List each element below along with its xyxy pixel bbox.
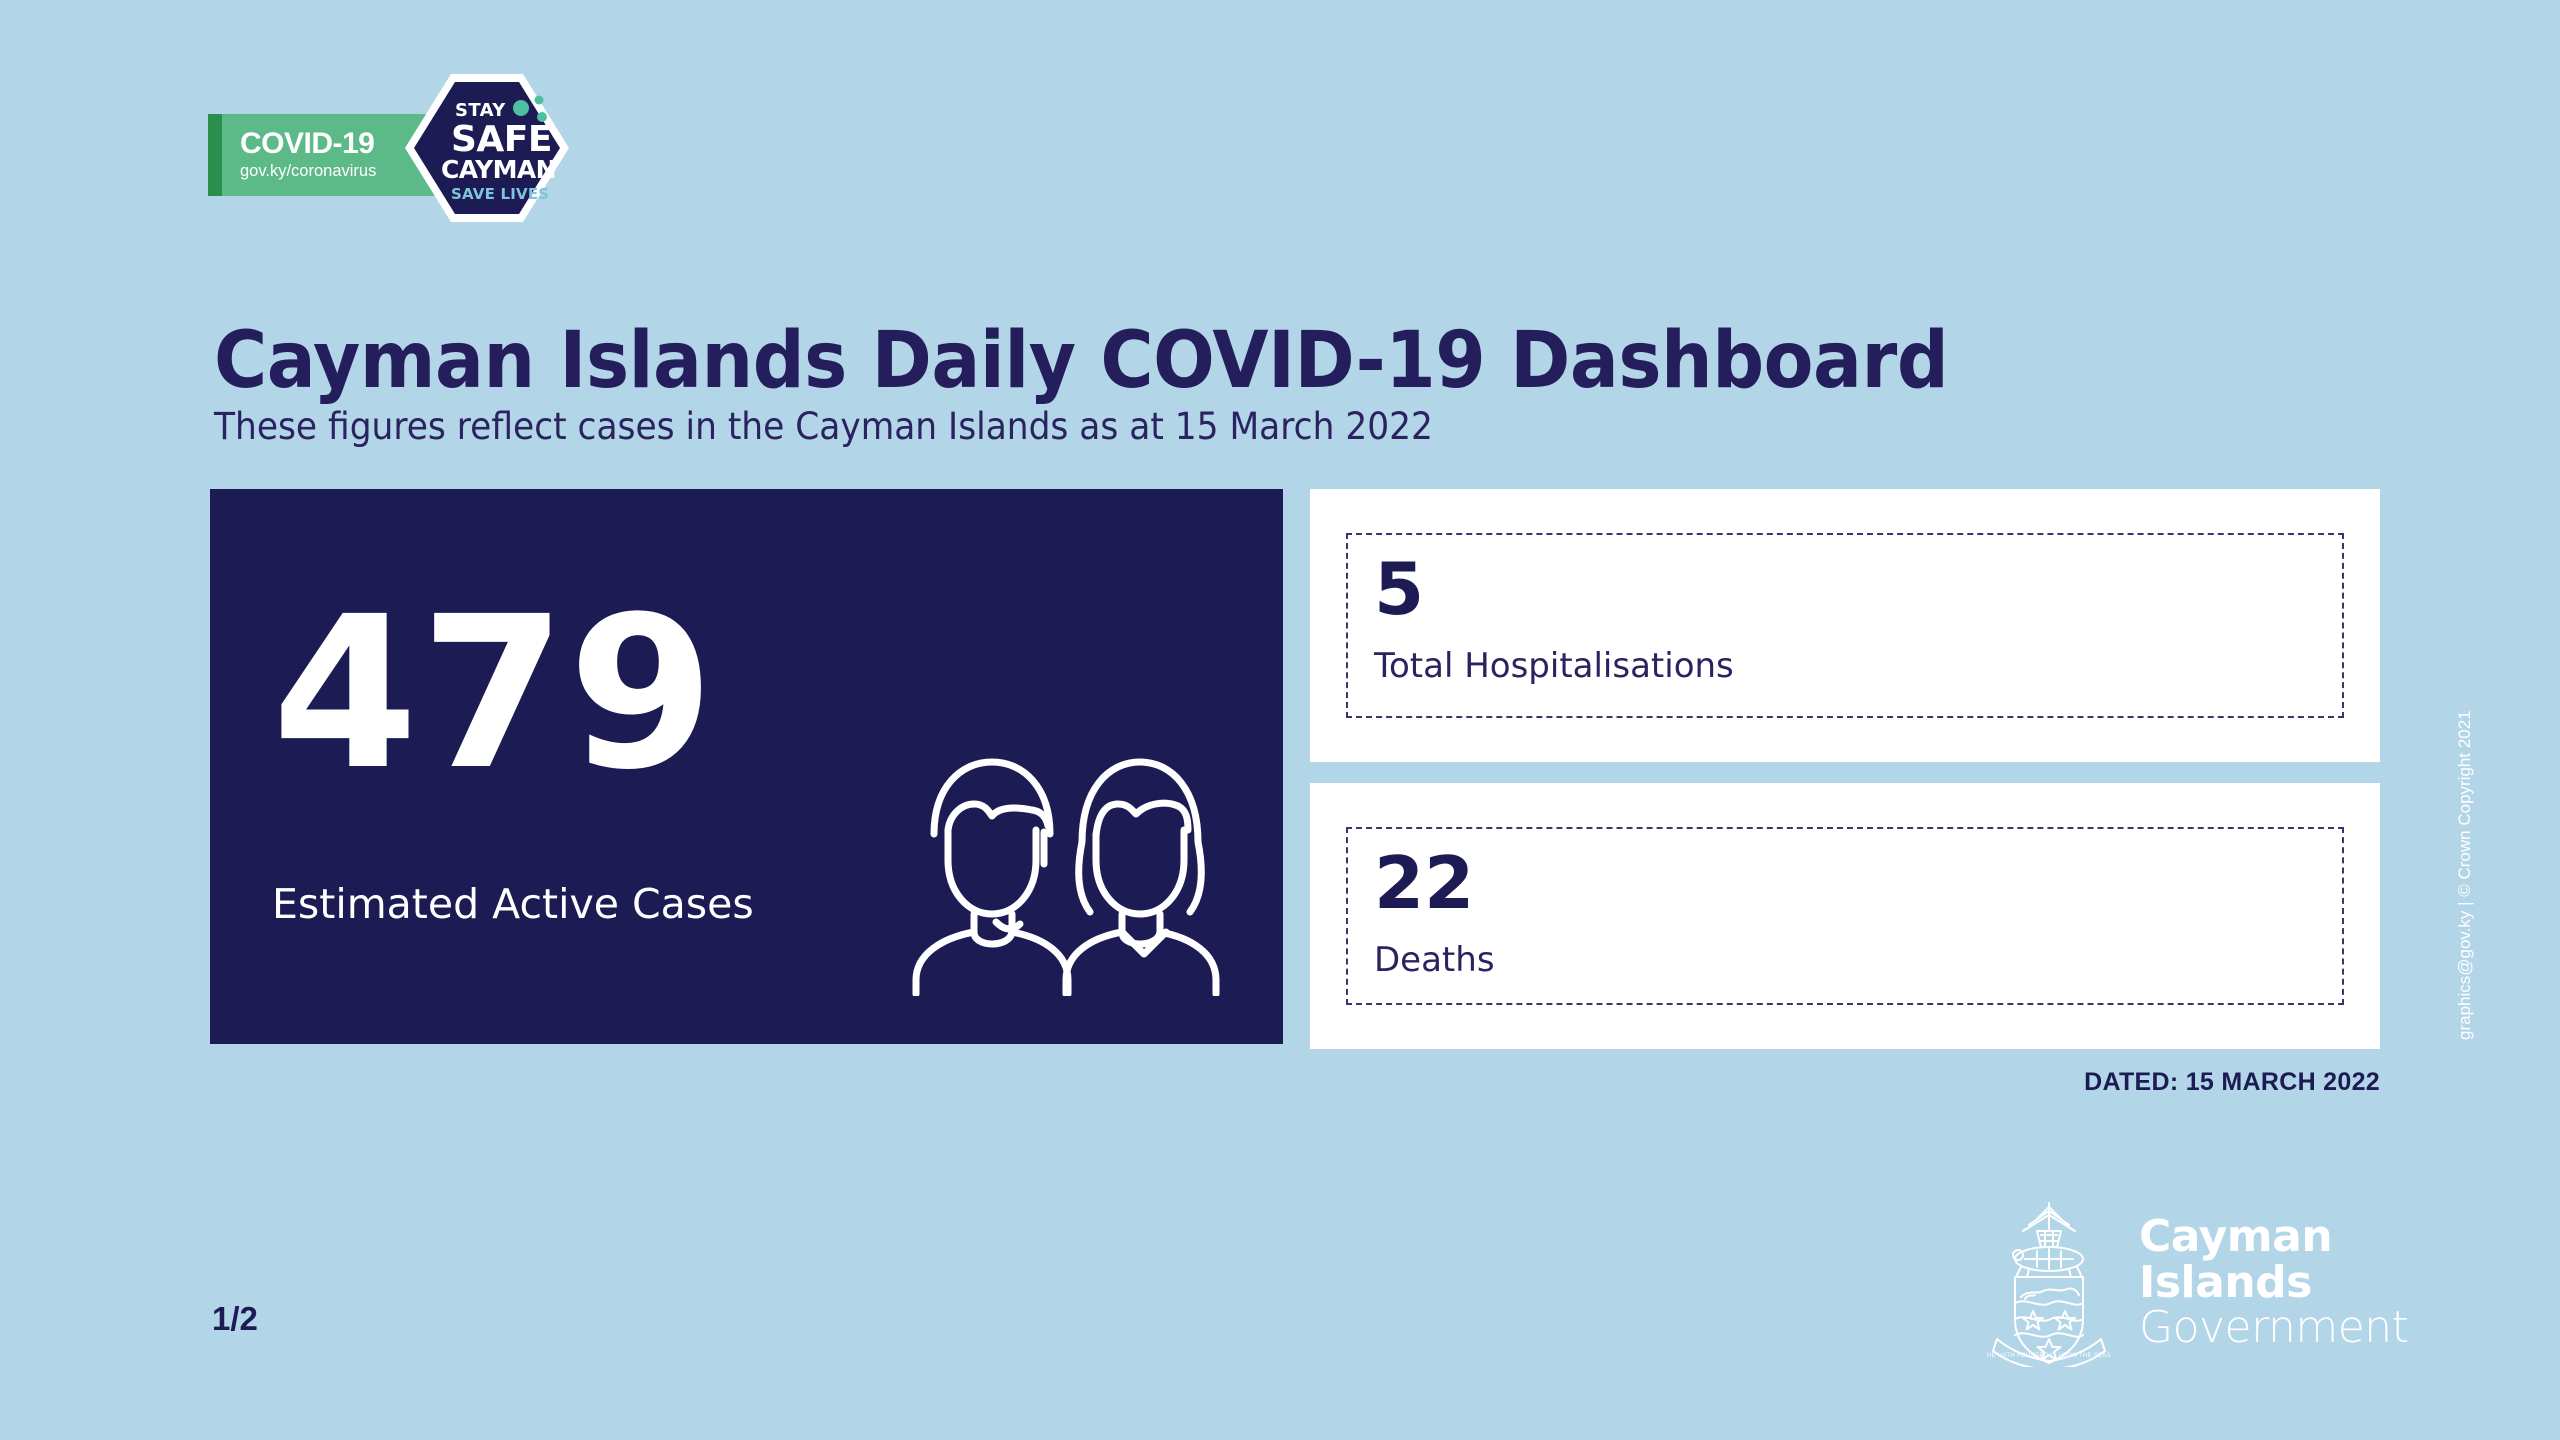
estimated-active-cases-label: Estimated Active Cases [272,884,754,925]
deaths-card: 22 Deaths [1310,783,2380,1049]
deaths-inner: 22 Deaths [1346,827,2344,1005]
deaths-label: Deaths [1374,943,2316,977]
dated-label: DATED: 15 MARCH 2022 [2084,1068,2380,1097]
total-hospitalisations-card: 5 Total Hospitalisations [1310,489,2380,762]
svg-text:CAYMAN: CAYMAN [441,155,556,184]
total-hospitalisations-inner: 5 Total Hospitalisations [1346,533,2344,718]
page-title: Cayman Islands Daily COVID-19 Dashboard [214,322,1948,400]
cayman-islands-government-logo: HE HATH FOUNDED IT UPON THE SEAS Cayman … [1985,1195,2405,1370]
government-wordmark: Cayman Islands Government [2139,1214,2408,1351]
page-number: 1/2 [212,1300,258,1338]
deaths-value: 22 [1374,847,2316,919]
estimated-active-cases-card: 479 Estimated Active Cases [210,489,1283,1044]
covid19-banner-edge-accent [208,114,222,196]
total-hospitalisations-value: 5 [1374,553,2316,625]
government-wordmark-line1: Cayman Islands [2139,1214,2408,1306]
svg-text:SAVE LIVES: SAVE LIVES [451,185,549,203]
two-people-icon [892,726,1232,996]
estimated-active-cases-value: 479 [272,589,716,799]
stay-safe-cayman-badge: STAY SAFE CAYMAN SAVE LIVES [403,72,571,224]
total-hospitalisations-label: Total Hospitalisations [1374,649,2316,683]
copyright-credit: graphics@gov.ky | © Crown Copyright 2021 [2455,710,2475,1040]
covid-stay-safe-logo-lockup: COVID-19 gov.ky/coronavirus STAY SAFE CA… [208,72,608,222]
government-wordmark-line2: Government [2139,1305,2408,1351]
svg-text:STAY: STAY [455,100,506,121]
page-subtitle: These figures reflect cases in the Cayma… [214,408,1433,445]
cayman-islands-coat-of-arms-icon: HE HATH FOUNDED IT UPON THE SEAS [1985,1199,2113,1367]
svg-text:SAFE: SAFE [451,119,552,160]
coat-of-arms-motto: HE HATH FOUNDED IT UPON THE SEAS [1987,1353,2111,1359]
dashboard-page: { "theme": { "background": "#b3d5e8", "n… [0,0,2560,1440]
